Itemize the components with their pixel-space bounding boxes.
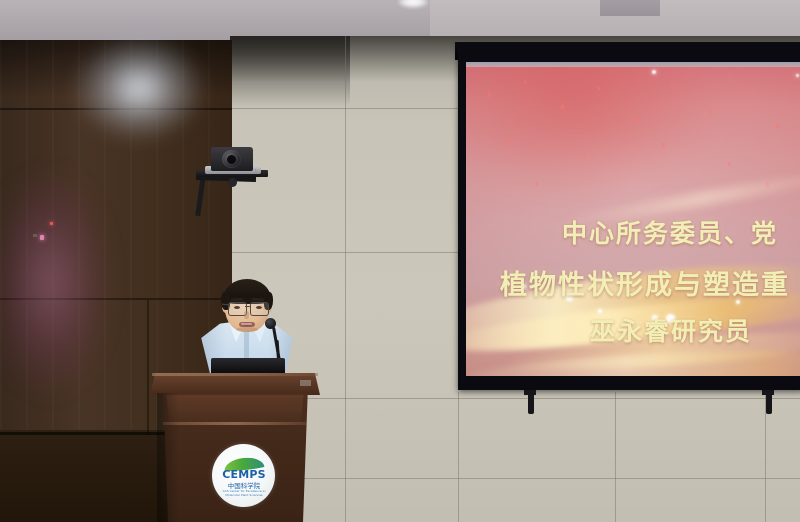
cemps-logo-icon: CEMPS 中国科学院 CAS Center for Excellence in… bbox=[212, 444, 275, 507]
slide-title-block: 中心所务委员、党 植物性状形成与塑造重 巫永睿研究员 bbox=[466, 62, 800, 376]
slide-line-3: 巫永睿研究员 bbox=[590, 312, 752, 348]
wall-seam bbox=[230, 398, 800, 399]
wood-seam bbox=[147, 300, 149, 435]
conference-room-photo: 中心所务委员、党 植物性状形成与塑造重 巫永睿研究员 bbox=[0, 0, 800, 522]
screen-bracket bbox=[766, 392, 772, 414]
speaker-chin-shadow bbox=[236, 327, 258, 332]
spotlight-glow bbox=[74, 36, 204, 141]
podium-upper-face bbox=[162, 395, 308, 423]
ceiling-vent bbox=[600, 0, 660, 16]
glasses-bridge bbox=[245, 306, 250, 307]
screen-bracket bbox=[528, 392, 534, 414]
wall-seam bbox=[345, 36, 346, 522]
logo-english-text: CAS Center for Excellence in Molecular P… bbox=[217, 489, 271, 497]
speaker-teeth bbox=[241, 323, 252, 325]
slide-line-1: 中心所务委员、党 bbox=[562, 214, 778, 250]
indicator-led bbox=[40, 235, 44, 240]
camera-lens-aperture bbox=[227, 155, 236, 164]
microphone-icon bbox=[265, 318, 276, 329]
wall-seam bbox=[615, 392, 616, 522]
wall-seam bbox=[230, 478, 800, 479]
podium-left-shadow bbox=[157, 393, 179, 522]
projection-screen: 中心所务委员、党 植物性状形成与塑造重 巫永睿研究员 bbox=[466, 62, 800, 376]
podium-top-highlight bbox=[152, 373, 318, 376]
glasses-lens-right bbox=[250, 302, 269, 316]
indicator-led bbox=[33, 234, 37, 237]
wall-corner-shadow bbox=[230, 36, 350, 106]
slide-line-2: 植物性状形成与塑造重 bbox=[500, 263, 790, 302]
speaker-nose bbox=[244, 311, 249, 319]
wall-seam bbox=[458, 392, 459, 522]
camera-mount-knob bbox=[228, 178, 237, 187]
indicator-led bbox=[50, 222, 53, 225]
podium-top bbox=[150, 373, 320, 395]
podium-ridge bbox=[163, 422, 307, 425]
podium-label-tag bbox=[300, 380, 311, 386]
